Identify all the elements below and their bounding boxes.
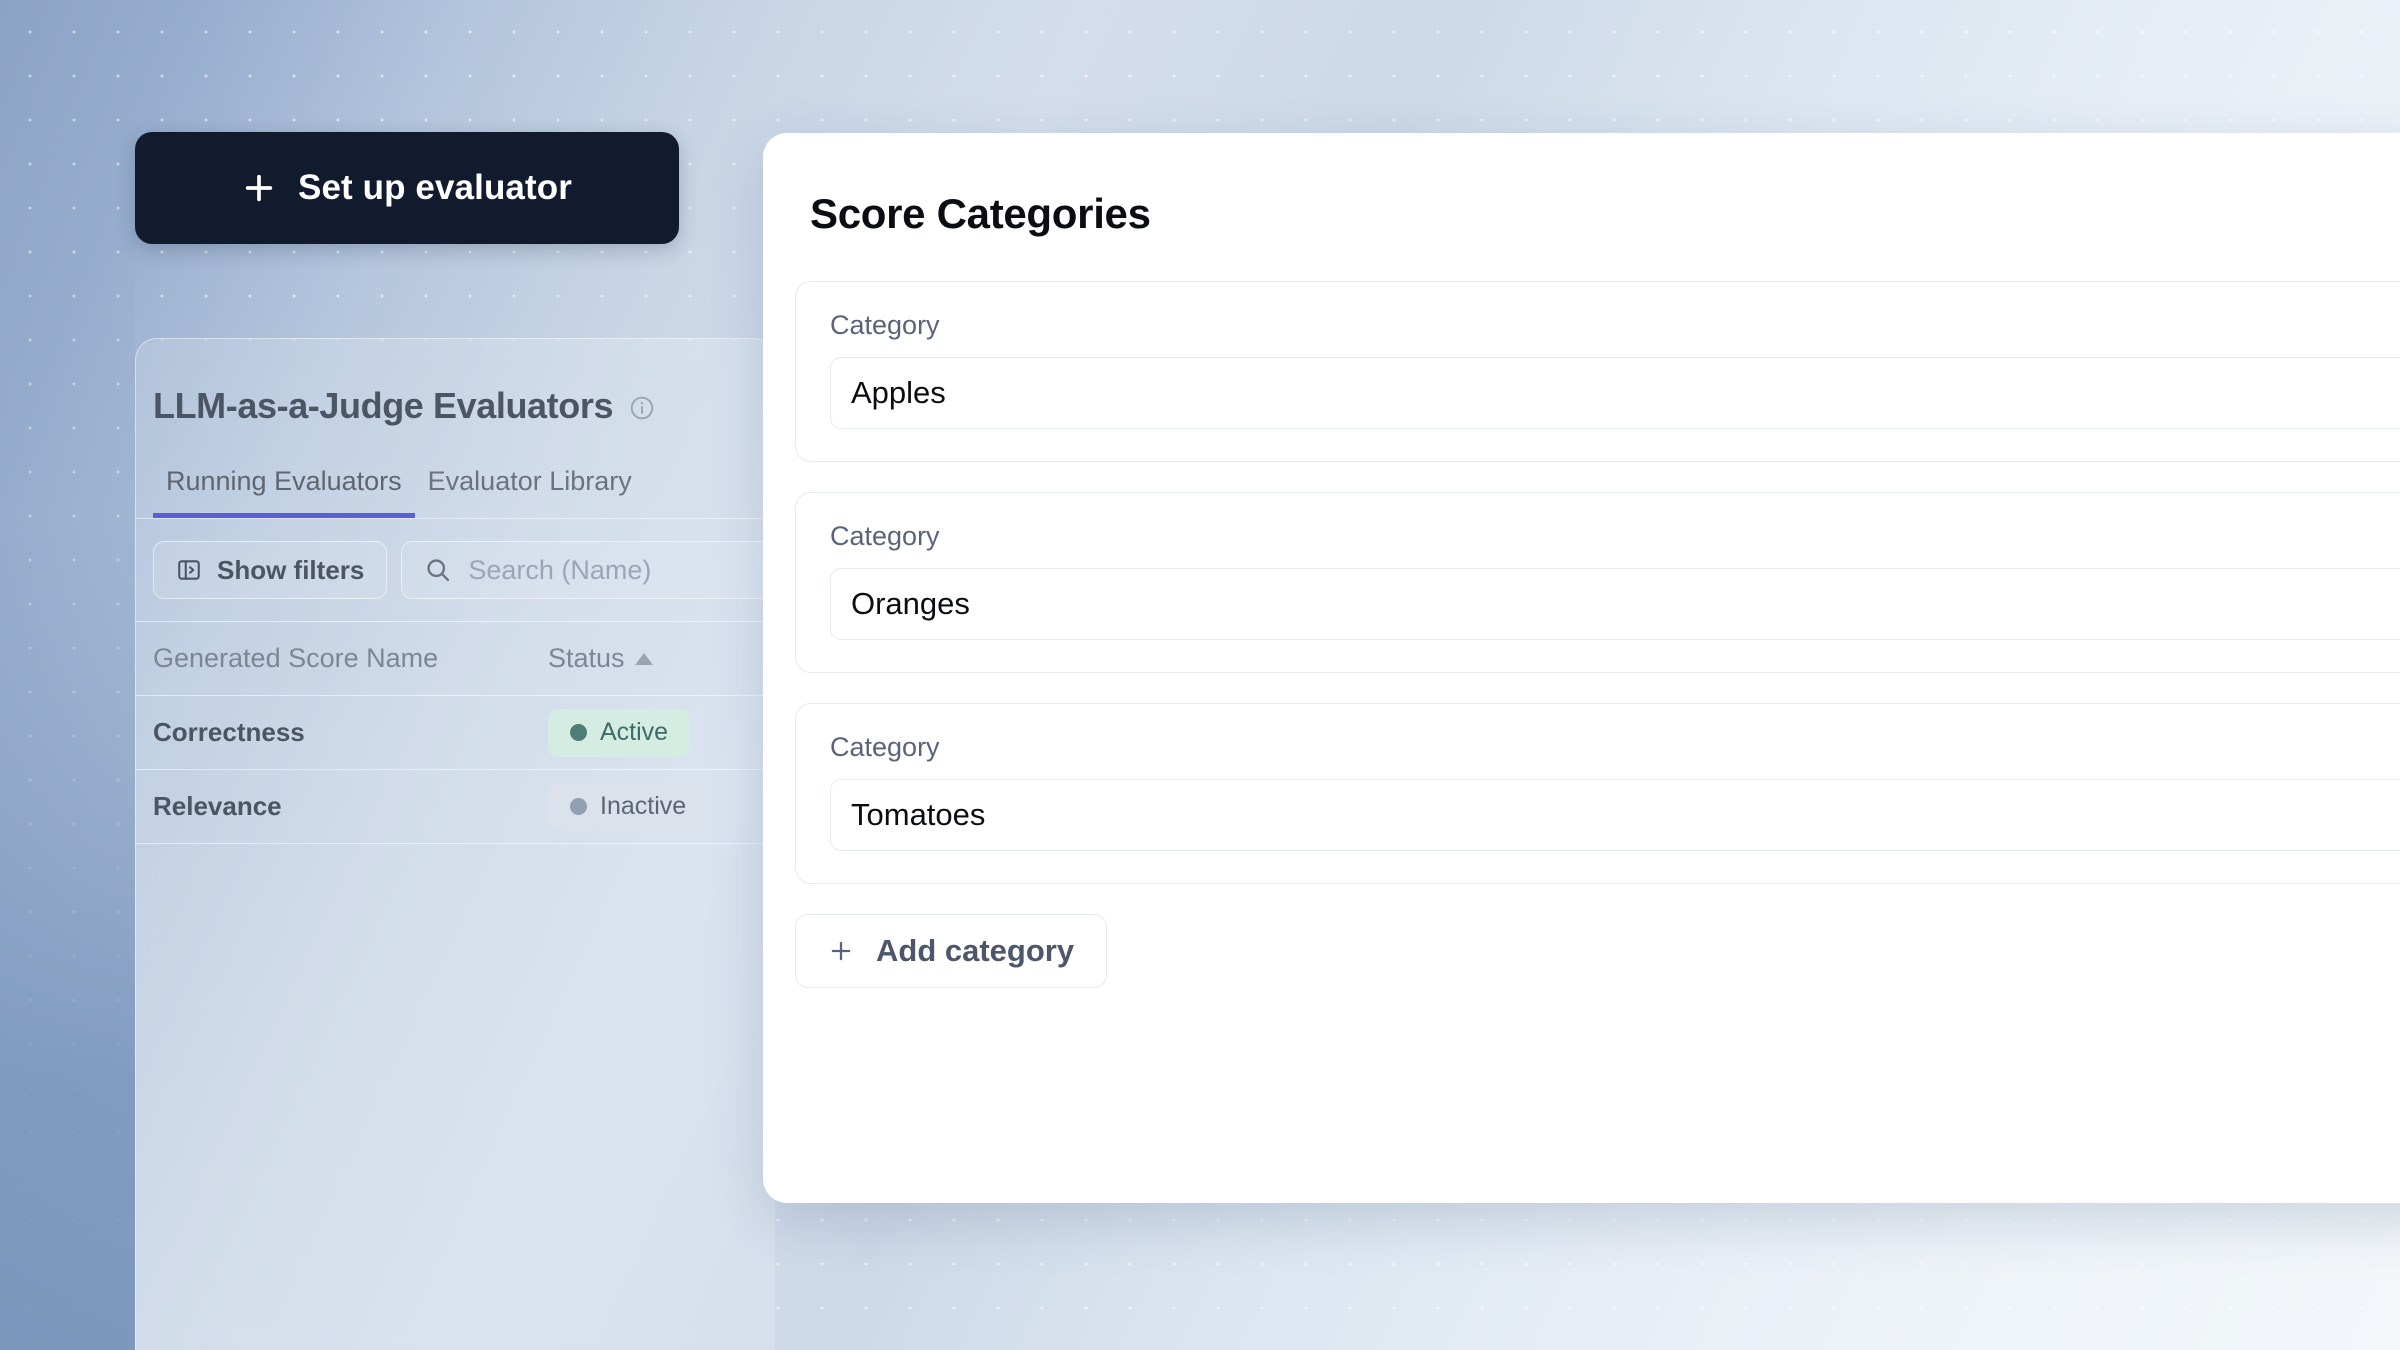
evaluators-panel: LLM-as-a-Judge Evaluators Running Evalua… <box>135 338 775 1350</box>
column-header-status-label: Status <box>548 643 625 674</box>
row-score-name: Relevance <box>153 791 548 822</box>
category-field-label: Category <box>830 732 2400 763</box>
setup-evaluator-label: Set up evaluator <box>298 168 572 208</box>
score-categories-title: Score Categories <box>763 133 2400 238</box>
add-category-button[interactable]: Add category <box>795 914 1107 988</box>
evaluators-toolbar: Show filters <box>136 519 775 622</box>
plus-icon <box>242 171 276 205</box>
score-categories-panel: Score Categories Category Category Categ… <box>763 133 2400 1203</box>
row-status-cell: Inactive <box>548 783 758 831</box>
status-badge: Inactive <box>548 783 708 831</box>
evaluators-panel-header: LLM-as-a-Judge Evaluators <box>136 339 775 427</box>
column-header-status[interactable]: Status <box>548 643 758 674</box>
status-dot-icon <box>570 798 587 815</box>
search-icon <box>424 556 452 584</box>
tab-evaluator-library[interactable]: Evaluator Library <box>415 466 645 518</box>
plus-icon <box>828 938 854 964</box>
row-status-cell: Active <box>548 709 758 757</box>
category-card: Category <box>795 492 2400 673</box>
page-title: LLM-as-a-Judge Evaluators <box>153 385 613 427</box>
category-input[interactable] <box>830 568 2400 640</box>
search-box[interactable] <box>401 541 775 599</box>
panel-left-icon <box>176 557 202 583</box>
category-field-label: Category <box>830 521 2400 552</box>
row-score-name: Correctness <box>153 717 548 748</box>
status-badge: Active <box>548 709 690 757</box>
caret-up-icon <box>635 653 653 665</box>
show-filters-label: Show filters <box>217 555 364 586</box>
app-background: Set up evaluator LLM-as-a-Judge Evaluato… <box>0 0 2400 1350</box>
background-left-strip <box>0 0 135 1350</box>
category-card: Category <box>795 703 2400 884</box>
status-badge-label: Active <box>600 718 668 747</box>
tab-running-evaluators[interactable]: Running Evaluators <box>153 466 415 518</box>
status-dot-icon <box>570 724 587 741</box>
evaluators-tabs: Running Evaluators Evaluator Library <box>136 457 775 519</box>
category-input[interactable] <box>830 779 2400 851</box>
status-badge-label: Inactive <box>600 792 686 821</box>
evaluators-table-header: Generated Score Name Status <box>136 622 775 696</box>
search-input[interactable] <box>468 555 752 586</box>
column-header-generated-score-name[interactable]: Generated Score Name <box>153 643 548 674</box>
category-field-label: Category <box>830 310 2400 341</box>
table-row[interactable]: Correctness Active <box>136 696 775 770</box>
add-category-label: Add category <box>876 933 1074 969</box>
category-card-list: Category Category Category Add category <box>763 238 2400 988</box>
setup-evaluator-button[interactable]: Set up evaluator <box>135 132 679 244</box>
show-filters-button[interactable]: Show filters <box>153 541 387 599</box>
category-input[interactable] <box>830 357 2400 429</box>
category-card: Category <box>795 281 2400 462</box>
info-icon[interactable] <box>629 395 655 421</box>
table-row[interactable]: Relevance Inactive <box>136 770 775 844</box>
